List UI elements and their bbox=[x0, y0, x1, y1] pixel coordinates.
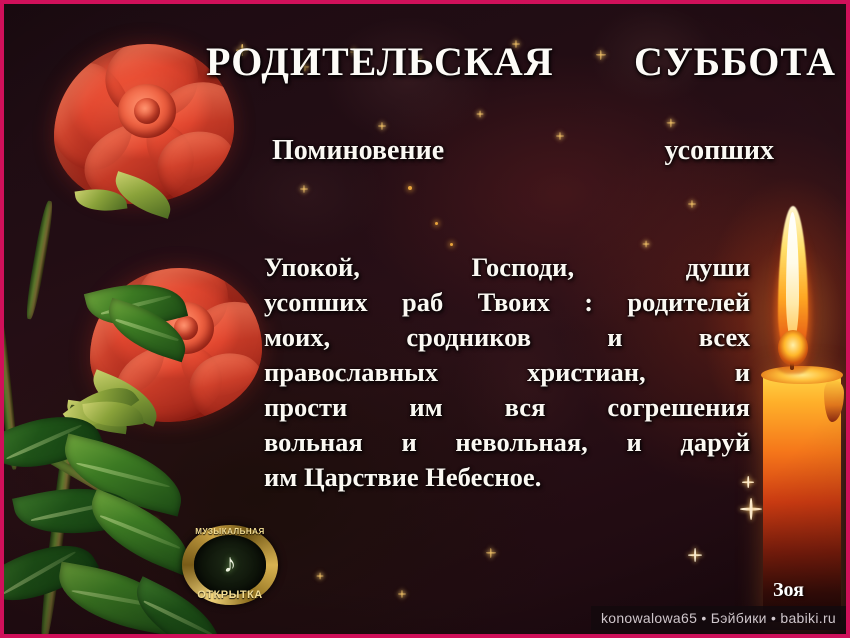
author-signature: Зоя bbox=[773, 579, 804, 602]
rose-center-inner bbox=[134, 98, 160, 124]
prayer-line: им Царствие Небесное. bbox=[264, 460, 750, 495]
logo-inner-disc: ♪ bbox=[194, 535, 267, 594]
candle-flame-base bbox=[778, 330, 808, 366]
prayer-line: усопших раб Твоих : родителей bbox=[264, 285, 750, 320]
prayer-text: Упокой, Господи, души усопших раб Твоих … bbox=[264, 250, 750, 495]
watermark-text: konowalowa65 • Бэйбики • babiki.ru bbox=[601, 610, 836, 626]
musical-postcard-logo[interactable]: ♪ МУЗЫКАЛЬНАЯ ОТКРЫТКА bbox=[182, 525, 278, 605]
card-subtitle: Поминовение усопших bbox=[272, 135, 774, 167]
logo-bottom-label: ОТКРЫТКА bbox=[182, 589, 278, 601]
music-note-icon: ♪ bbox=[223, 551, 236, 577]
prayer-line: православных христиан, и bbox=[264, 355, 750, 390]
prayer-line: Упокой, Господи, души bbox=[264, 250, 750, 285]
memorial-greeting-card: РОДИТЕЛЬСКАЯ СУББОТА Поминовение усопших… bbox=[0, 0, 850, 638]
watermark-bar: konowalowa65 • Бэйбики • babiki.ru bbox=[591, 606, 846, 630]
prayer-line: прости им вся согрешения bbox=[264, 390, 750, 425]
prayer-line: вольная и невольная, и даруй bbox=[264, 425, 750, 460]
card-title: РОДИТЕЛЬСКАЯ СУББОТА bbox=[206, 38, 836, 85]
logo-top-label: МУЗЫКАЛЬНАЯ bbox=[182, 527, 278, 536]
prayer-line: моих, сродников и всех bbox=[264, 320, 750, 355]
